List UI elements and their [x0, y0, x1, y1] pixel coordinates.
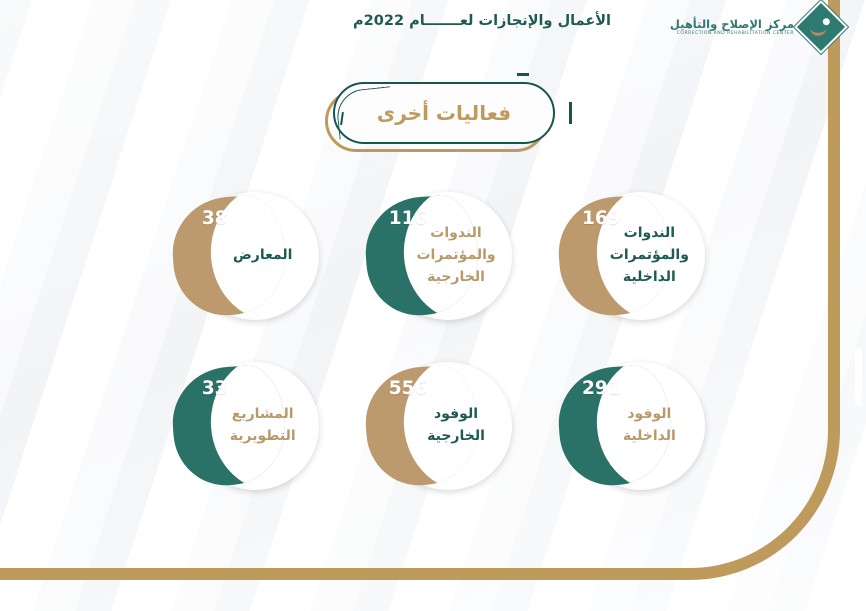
section-title-text: فعاليات أخرى	[377, 101, 511, 125]
section-title-badge: فعاليات أخرى	[333, 82, 555, 144]
logo-text-block: مركز الإصلاح والتأهيل CORRECTION AND REH…	[670, 18, 794, 37]
card-label: الوفود الداخلية	[599, 360, 699, 492]
gold-frame-gap	[855, 348, 862, 406]
card-label: الوفود الخارجية	[406, 360, 506, 492]
card-label: المشاريع التطويرية	[213, 360, 313, 492]
page-title: الأعمال والإنجازات لعـــــــام 2022م	[0, 13, 611, 29]
card-label: الندوات والمؤتمرات الداخلية	[599, 190, 699, 322]
logo-name-arabic: مركز الإصلاح والتأهيل	[670, 18, 794, 31]
logo-name-english: CORRECTION AND REHABILITATION CENTER	[670, 31, 794, 36]
stat-card-grid: 169 الندوات والمؤتمرات الداخلية 116 الند…	[150, 190, 730, 492]
stat-card[interactable]: 556 الوفود الخارجية	[360, 360, 520, 492]
stat-card[interactable]: 38 المعارض	[167, 190, 327, 322]
stat-card[interactable]: 169 الندوات والمؤتمرات الداخلية	[553, 190, 713, 322]
stat-card[interactable]: 116 الندوات والمؤتمرات الخارجية	[360, 190, 520, 322]
card-label: المعارض	[213, 190, 313, 322]
stat-card[interactable]: 291 الوفود الداخلية	[553, 360, 713, 492]
badge-decor-tick-right-icon	[569, 102, 572, 124]
card-label: الندوات والمؤتمرات الخارجية	[406, 190, 506, 322]
slide-canvas: الأعمال والإنجازات لعـــــــام 2022م مرك…	[0, 0, 866, 611]
organization-logo: مركز الإصلاح والتأهيل CORRECTION AND REH…	[670, 8, 840, 46]
diamond-emblem-icon	[794, 0, 848, 54]
stat-card[interactable]: 33 المشاريع التطويرية	[167, 360, 327, 492]
badge-decor-dash-top-icon	[517, 73, 529, 76]
